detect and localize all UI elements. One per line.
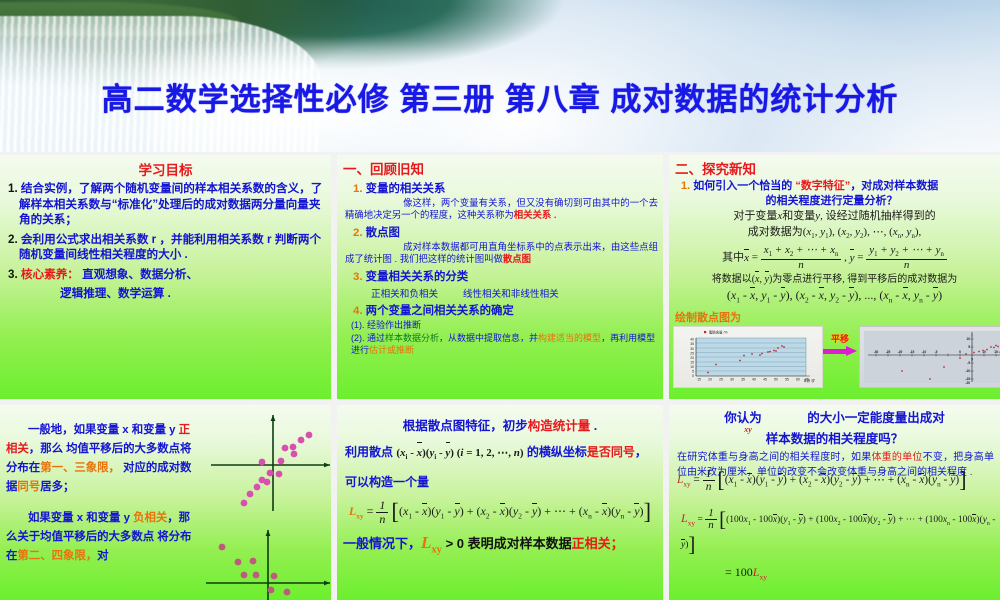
svg-text:30: 30 [690,347,694,351]
statistic-line-1: 利用散点 (xi - x)(yi - y) (i = 1, 2, ⋯, n) 的… [345,442,657,468]
statistic-line-2: 可以构造一个量 [345,472,657,493]
explore-question: 1. 如何引入一个恰当的 “数字特征”，对成对样本数据 [681,179,994,193]
svg-text:5: 5 [692,370,694,374]
chart-fat-vs-age: 152025 303540 455055 6065 0510 152025 30… [673,326,823,388]
explore-draw-label: 绘制散点图为 [675,309,1000,325]
chart-fat-vs-age-svg: 152025 303540 455055 6065 0510 152025 30… [674,327,822,387]
sub2-part-a: (2). 通过 [351,333,385,343]
svg-text:40: 40 [752,378,756,382]
objective-1-text: 结合实例，了解两个随机变量间的样本相关系数的含义，了解样本相关系数与“标准化”处… [19,182,322,226]
q2-text-d: 对 [97,550,108,562]
svg-text:15: 15 [697,378,701,382]
objective-2-number: 2. [8,233,18,246]
explore-shift-formula: (x1 - x, y1 - y), (x2 - x, y2 - y), ...,… [677,288,992,307]
svg-text:10: 10 [966,337,970,341]
explore-means-line: 其中x = x1 + x2 + ⋯ + xnn , y = y1 + y2 + … [677,245,992,271]
chart-centered-scatter: -30-25-20 -15-10-5 1015 05 105 -5-10 -15… [859,326,1000,388]
svg-text:-20: -20 [965,381,970,385]
chart-centered-scatter-svg: -30-25-20 -15-10-5 1015 05 105 -5-10 -15… [860,327,1000,387]
svg-text:5: 5 [968,345,970,349]
chart-negative-correlation-svg [196,527,330,600]
statistic-line1-a: 利用散点 [345,445,393,459]
question-heading-a: 你认为xy [724,411,762,425]
explore-question-number: 1. [681,180,690,192]
statistic-line1-c: ， [635,445,647,459]
svg-text:-20: -20 [898,350,903,354]
review-item-4-head: 4. 两个变量之间相关关系的确定 [353,302,663,318]
question-body-highlight: 体重的单位 [871,452,922,463]
review-item-1-number: 1. [353,183,363,195]
explore-shift-line: 将数据以(x, y)为零点进行平移, 得到平移后的成对数据为 [677,272,992,287]
quadrant-paragraph-2: 如果变量 x 和变量 y 负相关，那么关于均值平移后的大多数点 将分布在第二、四… [6,509,196,566]
svg-text:5: 5 [971,358,973,362]
review-item-2-title: 散点图 [366,227,400,239]
q2-negative-label: 负相关 [133,512,167,524]
conclusion-b: > 0 表明成对样本数据 [446,536,572,551]
svg-text:15: 15 [690,361,694,365]
chart-positive-correlation-svg [196,407,330,525]
objective-1-number: 1. [8,182,18,195]
question-subscript: xy [744,420,752,439]
objective-item-3: 3. 核心素养： 直观想象、数据分析、 [8,267,324,283]
q1-text-d: 居多； [40,481,74,493]
review-item-1-body: 像这样，两个变量有关系，但又没有确切到可由其中的一个去精确地决定另一个的程度，这… [345,197,658,222]
review-item-2-number: 2. [353,227,363,239]
q2-text-a: 如果变量 x 和变量 y [28,512,133,524]
question-formula-2: Lxy = 1n [(100x1 - 100x)(y1 - y) + (100x… [681,507,1000,557]
svg-text:15: 15 [994,350,998,354]
statistic-line1-highlight: 是否同号 [587,445,635,459]
statistic-line1-b: 的横纵坐标 [524,445,587,459]
review-item-1-text: 像这样，两个变量有关系，但又没有确切到可由其中的一个去精确地决定另一个的程度，这… [345,197,658,220]
question-body-a: 在研究体重与身高之间的相关程度时，如果 [677,452,871,463]
chart-positive-correlation [196,407,330,530]
explore-title: 二、探究新知 [675,158,1000,178]
page-title: 高二数学选择性必修 第三册 第八章 成对数据的统计分析 [0,78,1000,122]
explore-question-c: 的相关程度进行定量分析？ [669,194,994,208]
svg-text:0: 0 [959,350,961,354]
class-positive-negative: 正相关和负相关 [371,289,438,300]
svg-text:25: 25 [690,352,694,356]
question-formula-1: Lxy = 1n [(x1 - x)(y1 - y) + (x2 - x)(y2… [677,468,1000,493]
svg-text:20: 20 [708,378,712,382]
svg-text:-5: -5 [935,350,938,354]
review-title: 一、回顾旧知 [343,158,663,178]
statistic-conclusion: 一般情况下，Lxy > 0 表明成对样本数据正相关； [343,533,657,559]
quadrant-paragraph-1: 一般地，如果变量 x 和变量 y 正相关，那么 均值平移后的大多数点将分布在第一… [6,421,196,497]
explore-question-a: 如何引入一个恰当的 [693,180,792,192]
question-heading-line-2: 样本数据的相关程度吗？ [675,430,994,449]
statistic-heading-highlight: 构造统计量 [528,419,591,433]
svg-text:50: 50 [774,378,778,382]
review-item-4-title: 两个变量之间相关关系的确定 [366,305,514,317]
panel-statistic: 根据散点图特征，初步构造统计量 . 利用散点 (xi - x)(yi - y) … [337,405,663,600]
class-linear-nonlinear: 线性相关和非线性相关 [463,289,559,300]
panel-explore: 二、探究新知 1. 如何引入一个恰当的 “数字特征”，对成对样本数据 的相关程度… [669,155,1000,399]
objective-3-label: 核心素养： [21,268,79,281]
objective-3-number: 3. [8,268,18,281]
chart-negative-correlation [196,527,330,600]
panel-learning-objectives: 学习目标 1. 结合实例，了解两个随机变量间的样本相关系数的含义，了解样本相关系… [0,155,331,399]
explore-question-b: ，对成对样本数据 [850,180,938,192]
svg-text:25: 25 [719,378,723,382]
svg-text:-10: -10 [922,350,927,354]
question-formula-3: = 100Lxy [725,565,1000,581]
svg-text:-30: -30 [874,350,879,354]
svg-text:-5: -5 [967,361,970,365]
conclusion-a: 一般情况下， [343,536,421,551]
svg-text:0: 0 [692,374,694,378]
review-item-4-number: 4. [353,305,363,317]
review-item-3-classes: 正相关和负相关 线性相关和非线性相关 [371,286,663,300]
review-item-3-title: 变量相关关系的分类 [366,271,469,283]
review-item-2-head: 2. 散点图 [353,224,663,240]
right-arrow-icon [823,347,857,356]
explore-line-2: 成对数据为(x1, y1), (x2, y2), ⋯, (xn, yn), [677,225,992,244]
q1-text-a: 一般地，如果变量 x 和变量 y [28,424,179,436]
translate-label: 平移 [821,332,859,345]
objective-item-2: 2. 会利用公式求出相关系数 r ，并能利用相关系数 r 判断两个随机变量间线性… [8,232,324,263]
question-heading-line-1: 你认为xy 的大小一定能度量出成对 [675,409,994,428]
objective-item-1: 1. 结合实例，了解两个随机变量间的样本相关系数的含义，了解样本相关系数与“标准… [8,181,324,228]
review-item-3-head: 3. 变量相关关系的分类 [353,268,663,284]
svg-text:55: 55 [785,378,789,382]
svg-text:40: 40 [690,338,694,342]
svg-text:35: 35 [690,343,694,347]
q1-same-sign-label: 同号 [17,481,40,493]
svg-text:脂肪含量 /%: 脂肪含量 /% [709,330,727,335]
statistic-heading: 根据散点图特征，初步构造统计量 . [341,415,659,434]
svg-text:年龄 /岁: 年龄 /岁 [804,378,815,383]
svg-text:30: 30 [730,378,734,382]
review-item-2-text: 成对样本数据都可用直角坐标系中的点表示出来，由这些点组成了统计图 . 我们把这样… [345,241,658,264]
panel-question: 你认为xy 的大小一定能度量出成对 样本数据的相关程度吗？ 在研究体重与身高之间… [669,405,1000,600]
scatter-chart-pair: 152025 303540 455055 6065 0510 152025 30… [673,326,996,388]
panel-quadrants: 一般地，如果变量 x 和变量 y 正相关，那么 均值平移后的大多数点将分布在第一… [0,405,331,600]
review-item-1-highlight: 相关关系 . [514,209,557,220]
sub2-highlight-3: 估计或推断 [369,345,414,355]
slide: 高二数学选择性必修 第三册 第八章 成对数据的统计分析 学习目标 1. 结合实例… [0,0,1000,600]
svg-text:35: 35 [741,378,745,382]
review-item-4-sub-2: (2). 通过样本数据分析，从数据中提取信息，并构建适当的模型，再利用模型进行估… [351,332,658,356]
sub2-highlight-1: 样本数据分析 [385,333,439,343]
svg-text:-15: -15 [910,350,915,354]
review-item-4-sub-1: (1). 经验作出推断 [351,319,658,331]
q1-quadrant-label: 第一、三象限， [40,462,120,474]
sub2-part-b: ，从数据中提取信息，并 [439,333,538,343]
explore-line-1: 对于变量x和变量y, 设经过随机抽样得到的 [677,209,992,224]
translate-indicator: 平移 [821,332,859,376]
header-banner: 高二数学选择性必修 第三册 第八章 成对数据的统计分析 [0,0,1000,152]
review-item-2-highlight: 散点图 [503,253,531,264]
statistic-formula-lxy: Lxy = 1n [(x1 - x)(y1 - y) + (x2 - x)(y2… [337,499,663,525]
objectives-title: 学习目标 [0,159,331,179]
review-item-3-number: 3. [353,271,363,283]
objective-2-text: 会利用公式求出相关系数 r ，并能利用相关系数 r 判断两个随机变量间线性相关程… [19,233,321,262]
review-item-1-head: 1. 变量的相关关系 [353,180,663,196]
statistic-heading-a: 根据散点图特征，初步 [403,419,528,433]
review-item-2-body: 成对样本数据都可用直角坐标系中的点表示出来，由这些点组成了统计图 . 我们把这样… [345,241,658,266]
sub2-highlight-2: 构建适当的模型 [538,333,601,343]
conclusion-highlight: 正相关； [572,536,624,551]
mean-prefix: 其中 [722,252,744,264]
review-item-1-title: 变量的相关关系 [366,183,446,195]
question-heading-b: 的大小一定能度量出成对 [807,411,945,425]
statistic-heading-b: . [590,419,597,433]
svg-text:20: 20 [690,356,694,360]
objective-3-text: 直观想象、数据分析、 [82,268,198,281]
explore-question-highlight: “数字特征” [795,180,850,192]
svg-text:10: 10 [690,365,694,369]
svg-text:45: 45 [763,378,767,382]
objective-item-3-cont: 逻辑推理、数学运算 . [60,286,324,302]
panel-review: 一、回顾旧知 1. 变量的相关关系 像这样，两个变量有关系，但又没有确切到可由其… [337,155,663,399]
svg-text:60: 60 [796,378,800,382]
svg-text:-10: -10 [965,369,970,373]
q2-quadrant-label: 第二、四象限， [17,550,97,562]
svg-text:-25: -25 [886,350,891,354]
